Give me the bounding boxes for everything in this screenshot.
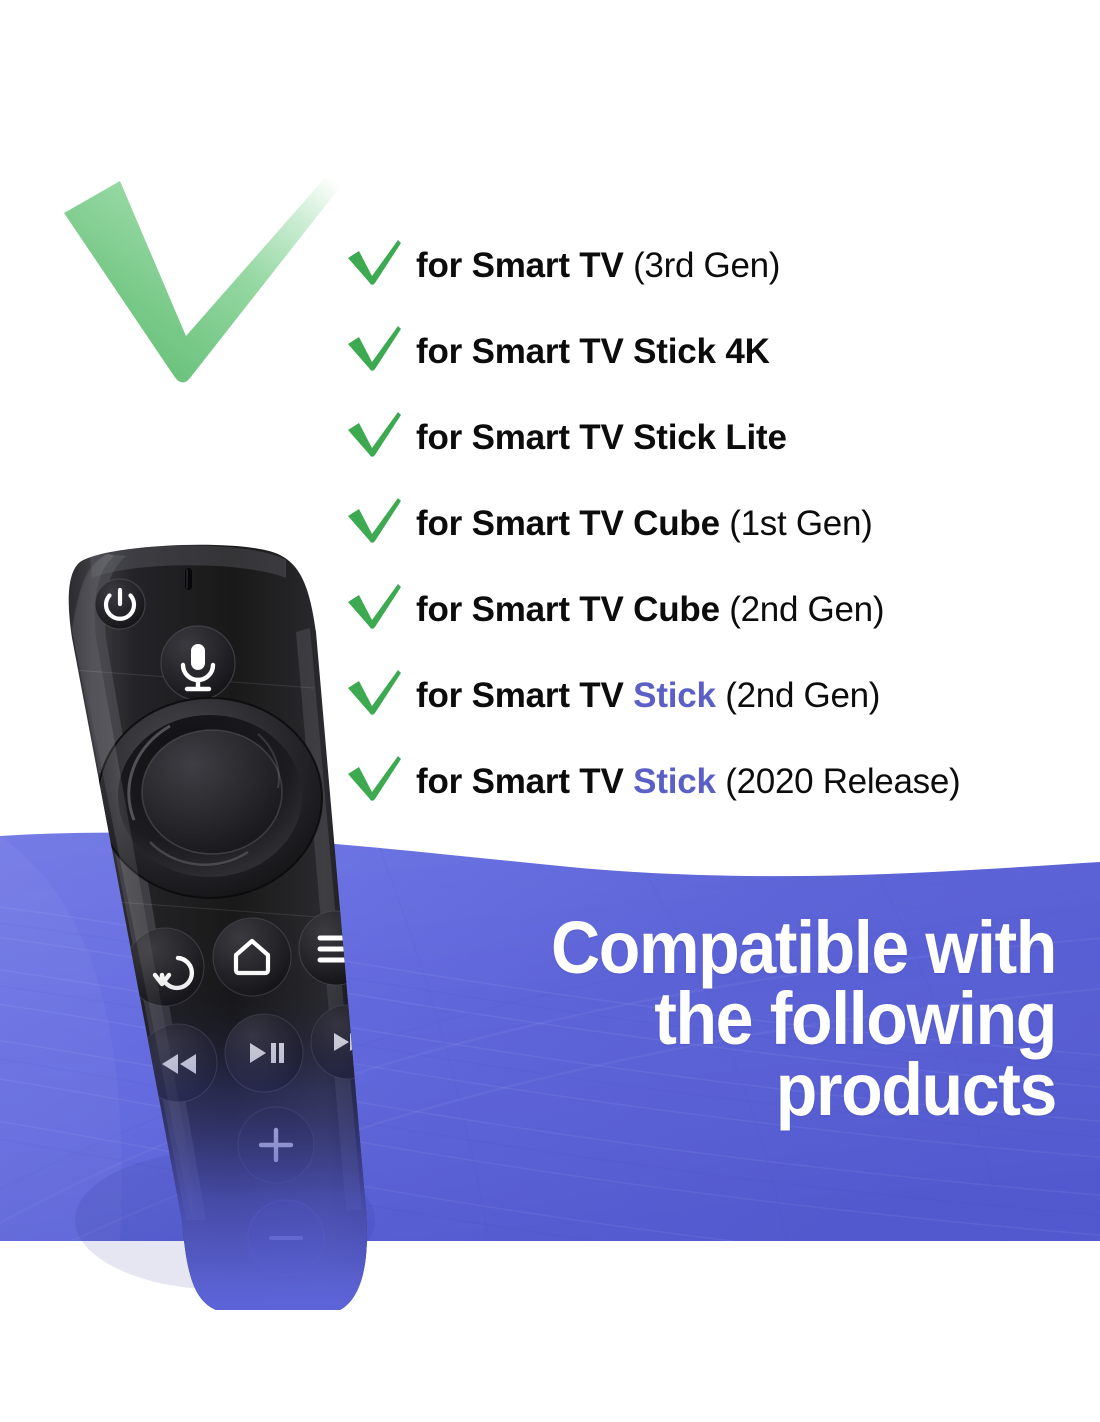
list-item: for Smart TV (3rd Gen) bbox=[346, 222, 1066, 308]
list-item: for Smart TV Stick (2020 Release) bbox=[346, 738, 1066, 824]
list-item: for Smart TV Cube (2nd Gen) bbox=[346, 566, 1066, 652]
headline-line-3: products bbox=[430, 1054, 1056, 1125]
list-item: for Smart TV Stick 4K bbox=[346, 308, 1066, 394]
list-item-label: for Smart TV Stick Lite bbox=[416, 420, 787, 455]
list-item: for Smart TV Stick (2nd Gen) bbox=[346, 652, 1066, 738]
headline: Compatible with the following products bbox=[430, 912, 1056, 1125]
compatibility-list: for Smart TV (3rd Gen) for Smart TV Stic… bbox=[346, 222, 1066, 824]
hero-checkmark-icon bbox=[58, 168, 348, 396]
list-item-label: for Smart TV Stick (2nd Gen) bbox=[416, 678, 880, 713]
list-item-label: for Smart TV Stick 4K bbox=[416, 334, 770, 369]
list-item-label: for Smart TV Cube (1st Gen) bbox=[416, 506, 872, 541]
list-item-label: for Smart TV Cube (2nd Gen) bbox=[416, 592, 884, 627]
green-check-icon bbox=[346, 238, 402, 286]
list-item-label: for Smart TV (3rd Gen) bbox=[416, 248, 780, 283]
headline-line-1: Compatible with bbox=[430, 912, 1056, 983]
list-item: for Smart TV Cube (1st Gen) bbox=[346, 480, 1066, 566]
green-check-icon bbox=[346, 410, 402, 458]
remote-control-image bbox=[10, 520, 410, 1310]
list-item: for Smart TV Stick Lite bbox=[346, 394, 1066, 480]
headline-line-2: the following bbox=[430, 983, 1056, 1054]
product-compatibility-graphic: for Smart TV (3rd Gen) for Smart TV Stic… bbox=[0, 0, 1100, 1422]
list-item-label: for Smart TV Stick (2020 Release) bbox=[416, 764, 960, 799]
green-check-icon bbox=[346, 324, 402, 372]
